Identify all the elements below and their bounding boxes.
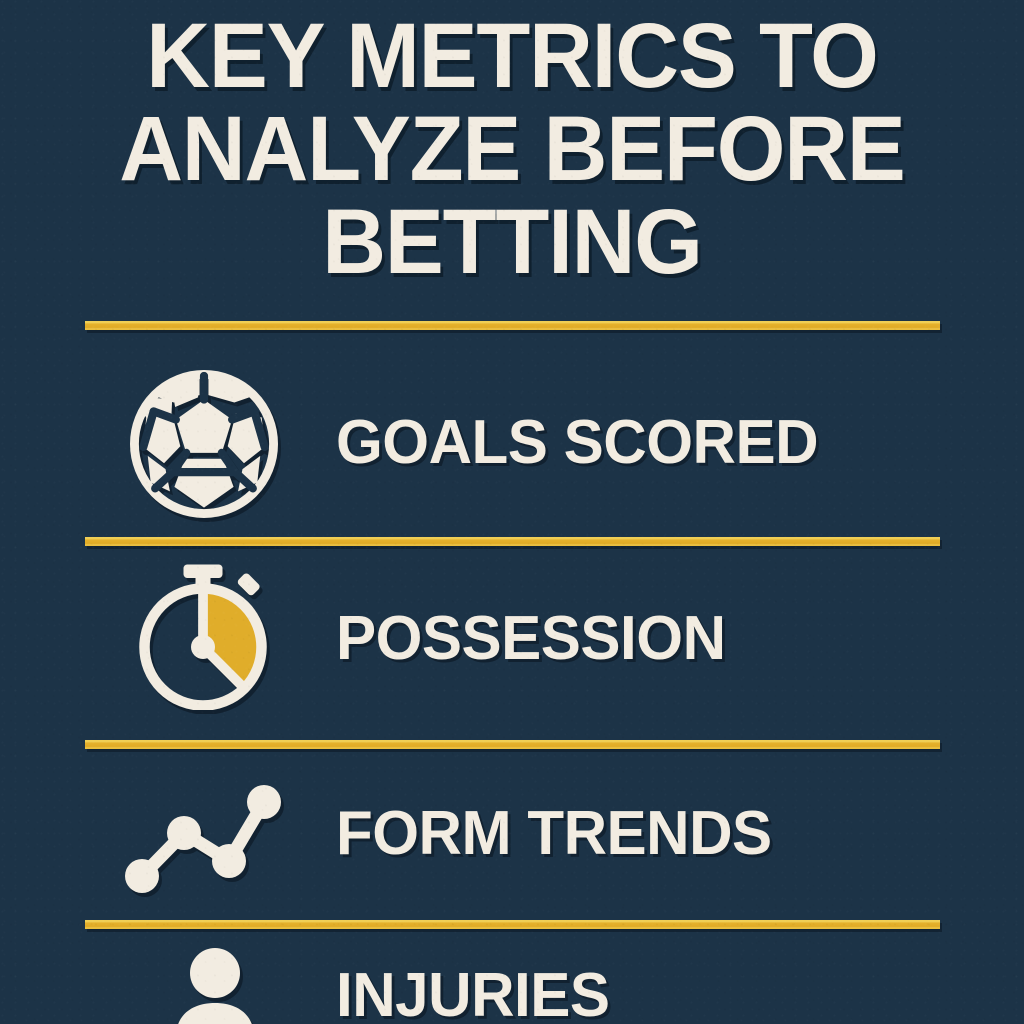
metric-row-injuries[interactable]: INJURIES [0,945,1024,1024]
page-title: KEY METRICS TO ANALYZE BEFORE BETTING [0,10,1024,289]
line-chart-trend-icon [118,775,283,905]
metric-row-possession[interactable]: POSSESSION [0,560,1024,720]
metric-label-injuries: INJURIES [336,965,610,1024]
metric-row-form-trends[interactable]: FORM TRENDS [0,775,1024,900]
page-title-line-1: KEY METRICS TO [20,10,1003,103]
infographic-poster: KEY METRICS TO ANALYZE BEFORE BETTING [0,0,1024,1024]
divider-2 [85,537,940,546]
stopwatch-icon [128,560,278,715]
metric-label-form-trends: FORM TRENDS [336,803,772,865]
page-title-line-3: BETTING [20,196,1003,289]
divider-3 [85,740,940,749]
soccer-ball-icon [130,370,278,523]
person-injury-icon [160,945,270,1024]
divider-1 [85,321,940,330]
divider-4 [85,920,940,929]
page-title-line-2: ANALYZE BEFORE [20,103,1003,196]
metric-label-goals-scored: GOALS SCORED [336,412,818,474]
metric-row-goals-scored[interactable]: GOALS SCORED [0,370,1024,520]
metric-label-possession: POSSESSION [336,608,726,670]
